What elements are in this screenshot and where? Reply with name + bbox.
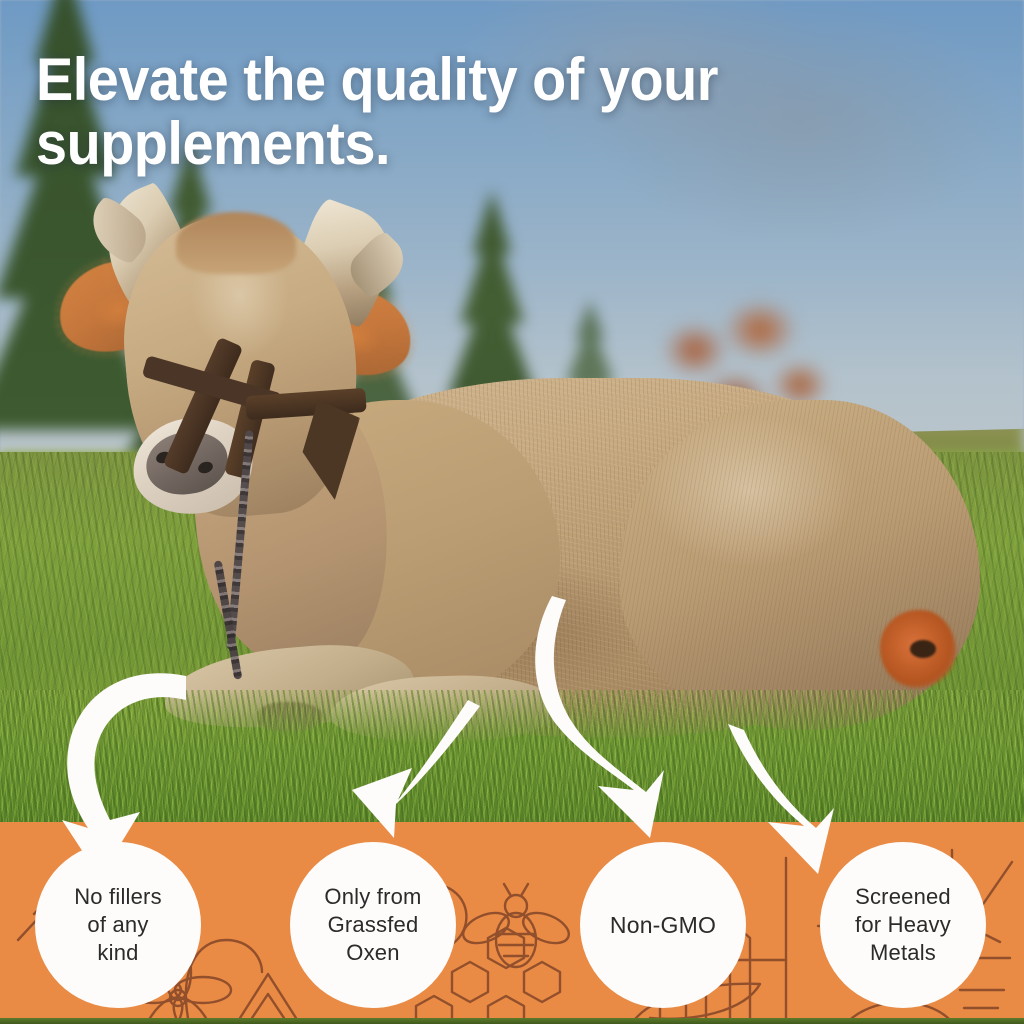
page-title: Elevate the quality of your supplements.	[36, 48, 873, 175]
badge-no-fillers[interactable]: No fillersof anykind	[35, 842, 201, 1008]
headline-line-1: Elevate the quality of your	[36, 48, 873, 112]
badge-label: No fillersof anykind	[64, 883, 172, 966]
ox-forehead-tuft	[176, 212, 296, 274]
headline-line-2: supplements.	[36, 112, 873, 176]
ox-tail-tip	[910, 640, 936, 658]
bottom-grass-sliver	[0, 1018, 1024, 1024]
badge-non-gmo[interactable]: Non-GMO	[580, 842, 746, 1008]
badge-label: Non-GMO	[600, 911, 726, 940]
badge-heavy-metals[interactable]: Screenedfor HeavyMetals	[820, 842, 986, 1008]
badge-label: Only fromGrassfedOxen	[314, 883, 431, 966]
marketing-graphic: Elevate the quality of your supplements.	[0, 0, 1024, 1024]
badge-label: Screenedfor HeavyMetals	[845, 883, 961, 966]
badge-grassfed-oxen[interactable]: Only fromGrassfedOxen	[290, 842, 456, 1008]
